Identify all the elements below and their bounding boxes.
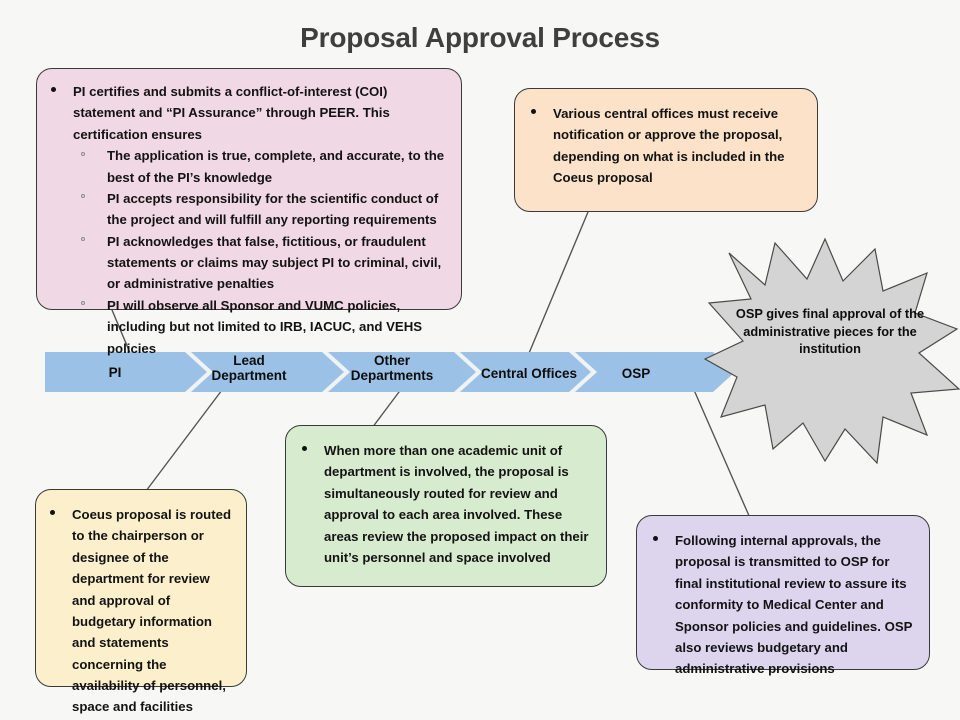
list-item: Various central offices must receive not… bbox=[525, 103, 805, 189]
pi-certifies-sub-1: The application is true, complete, and a… bbox=[107, 148, 444, 184]
coeus-routing-list: Coeus proposal is routed to the chairper… bbox=[44, 504, 236, 718]
pi-certifies-list: PI certifies and submits a conflict-of-i… bbox=[45, 81, 447, 359]
pi-certifies-sub-4: PI will observe all Sponsor and VUMC pol… bbox=[107, 298, 422, 356]
hollow-bullet-icon bbox=[81, 301, 85, 305]
coeus-routing-text: Coeus proposal is routed to the chairper… bbox=[72, 507, 231, 714]
pi-certifies-sublist: The application is true, complete, and a… bbox=[73, 145, 447, 359]
page-title: Proposal Approval Process bbox=[0, 22, 960, 54]
list-item: PI certifies and submits a conflict-of-i… bbox=[45, 81, 447, 359]
hollow-bullet-icon bbox=[81, 152, 85, 156]
central-offices-callout: Various central offices must receive not… bbox=[514, 88, 818, 212]
bullet-icon bbox=[51, 87, 56, 92]
central-offices-text: Various central offices must receive not… bbox=[553, 106, 785, 185]
pi-certifies-callout: PI certifies and submits a conflict-of-i… bbox=[36, 68, 462, 310]
connector-other-departments-to-multi-unit bbox=[372, 388, 402, 428]
hollow-bullet-icon bbox=[81, 237, 85, 241]
list-item: PI accepts responsibility for the scient… bbox=[73, 188, 447, 231]
osp-transmit-list: Following internal approvals, the propos… bbox=[647, 530, 917, 680]
multi-unit-list: When more than one academic unit of depa… bbox=[296, 440, 592, 568]
central-offices-list: Various central offices must receive not… bbox=[525, 103, 805, 189]
list-item: The application is true, complete, and a… bbox=[73, 145, 447, 188]
hollow-bullet-icon bbox=[81, 194, 85, 198]
list-item: Following internal approvals, the propos… bbox=[647, 530, 917, 680]
pi-certifies-sub-3: PI acknowledges that false, fictitious, … bbox=[107, 234, 441, 292]
list-item: PI acknowledges that false, fictitious, … bbox=[73, 231, 447, 295]
osp-transmit-text: Following internal approvals, the propos… bbox=[675, 533, 912, 676]
coeus-routing-callout: Coeus proposal is routed to the chairper… bbox=[35, 489, 247, 687]
bullet-icon bbox=[50, 510, 55, 515]
starburst-polygon bbox=[705, 239, 959, 463]
osp-transmit-callout: Following internal approvals, the propos… bbox=[636, 515, 930, 670]
bullet-icon bbox=[531, 109, 536, 114]
bullet-icon bbox=[653, 536, 658, 541]
osp-final-approval-starburst bbox=[703, 237, 960, 465]
list-item: PI will observe all Sponsor and VUMC pol… bbox=[73, 295, 447, 359]
multi-unit-text: When more than one academic unit of depa… bbox=[324, 443, 589, 565]
multi-unit-callout: When more than one academic unit of depa… bbox=[285, 425, 607, 587]
connector-central-offices-callout-to-step bbox=[527, 212, 588, 358]
connector-lead-department-to-coeus-routing bbox=[146, 390, 222, 491]
starburst-shape bbox=[703, 237, 960, 465]
pi-certifies-sub-2: PI accepts responsibility for the scient… bbox=[107, 191, 438, 227]
diagram-canvas: Proposal Approval Process PI certifies a… bbox=[0, 0, 960, 720]
pi-certifies-main-text: PI certifies and submits a conflict-of-i… bbox=[73, 84, 390, 142]
list-item: Coeus proposal is routed to the chairper… bbox=[44, 504, 236, 718]
list-item: When more than one academic unit of depa… bbox=[296, 440, 592, 568]
bullet-icon bbox=[302, 446, 307, 451]
